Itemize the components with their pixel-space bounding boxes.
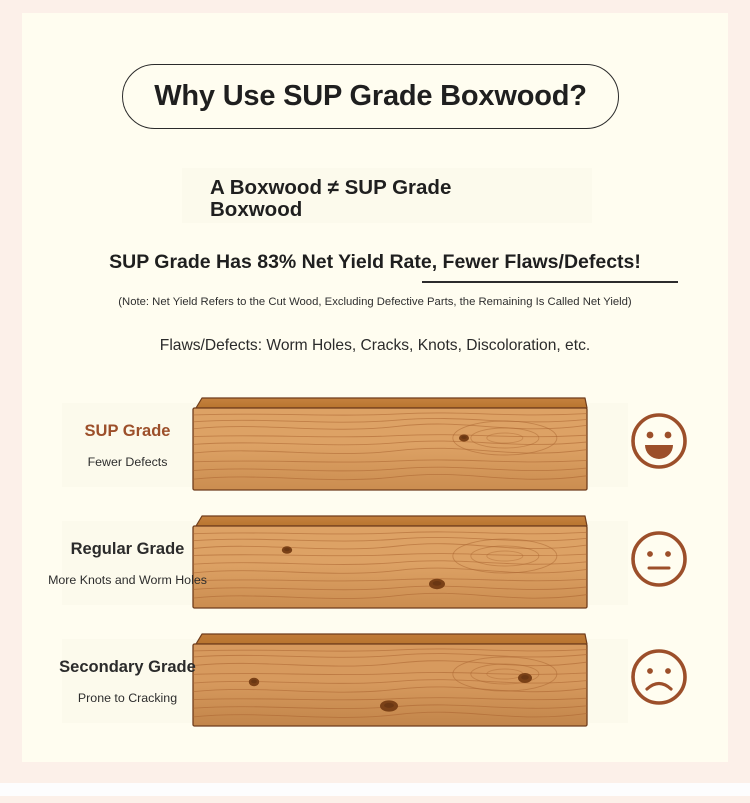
headline-underline xyxy=(422,281,678,283)
bottom-margin-band xyxy=(0,796,750,803)
grade-title: Secondary Grade xyxy=(59,658,196,677)
sad-face-icon xyxy=(628,646,690,708)
wood-plank-regular xyxy=(192,514,588,610)
net-yield-note: (Note: Net Yield Refers to the Cut Wood,… xyxy=(22,296,728,308)
grade-subtitle: More Knots and Worm Holes xyxy=(48,573,207,587)
grade-label-group: Secondary Grade Prone to Cracking xyxy=(40,631,215,731)
page-title: Why Use SUP Grade Boxwood? xyxy=(154,80,587,113)
page-title-pill: Why Use SUP Grade Boxwood? xyxy=(122,64,619,129)
wood-plank-sup xyxy=(192,396,588,492)
headline: SUP Grade Has 83% Net Yield Rate, Fewer … xyxy=(22,251,728,274)
neutral-face-icon xyxy=(628,528,690,590)
grade-title: Regular Grade xyxy=(71,540,185,559)
grade-label-group: SUP Grade Fewer Defects xyxy=(40,395,215,495)
wood-plank-secondary xyxy=(192,632,588,728)
happy-face-icon xyxy=(628,410,690,472)
white-divider-band xyxy=(0,783,750,796)
subtitle: A Boxwood ≠ SUP Grade Boxwood xyxy=(210,177,510,221)
grade-row-regular: Regular Grade More Knots and Worm Holes xyxy=(22,513,728,613)
grade-label-group: Regular Grade More Knots and Worm Holes xyxy=(40,513,215,613)
page-background: Why Use SUP Grade Boxwood? A Boxwood ≠ S… xyxy=(0,0,750,803)
grade-subtitle: Prone to Cracking xyxy=(78,691,177,705)
content-card: Why Use SUP Grade Boxwood? A Boxwood ≠ S… xyxy=(22,13,728,762)
grade-title: SUP Grade xyxy=(85,422,171,441)
flaws-definition: Flaws/Defects: Worm Holes, Cracks, Knots… xyxy=(22,337,728,355)
grade-row-secondary: Secondary Grade Prone to Cracking xyxy=(22,631,728,731)
grade-row-sup: SUP Grade Fewer Defects xyxy=(22,395,728,495)
grade-subtitle: Fewer Defects xyxy=(88,455,168,469)
